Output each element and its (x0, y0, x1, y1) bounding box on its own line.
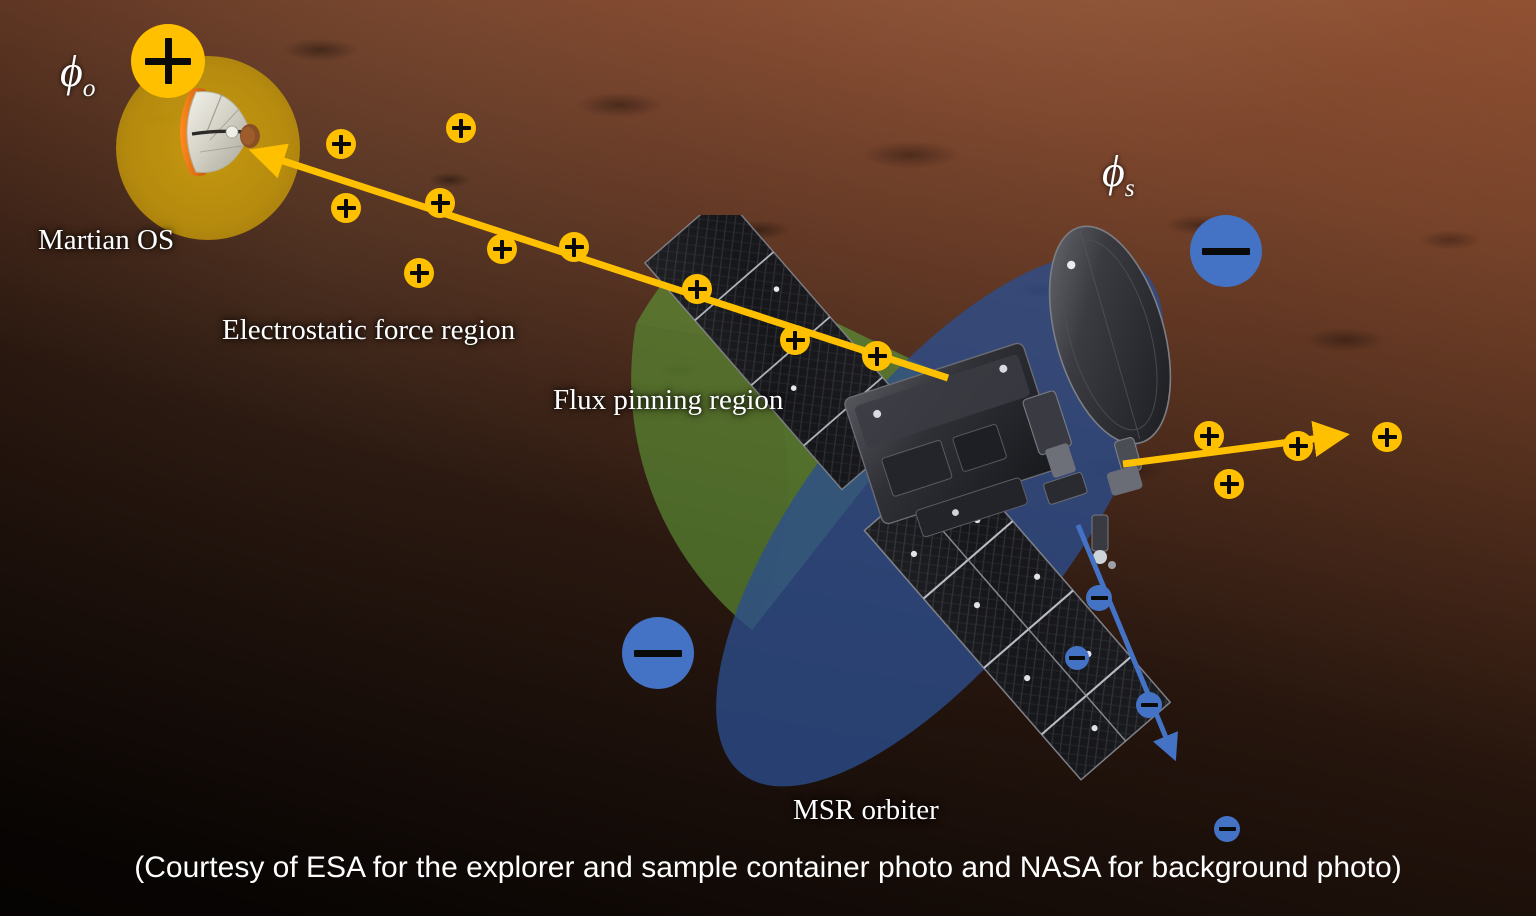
plus-charge-0 (326, 129, 356, 159)
plus-vertical-bar (793, 331, 797, 350)
phi-o-subscript: o (83, 73, 96, 102)
figure-canvas: ϕo ϕs Martian OS Electrostatic force reg… (0, 0, 1536, 916)
minus-charge-0 (1086, 585, 1112, 611)
plus-vertical-bar (165, 38, 172, 84)
plus-charge-6 (559, 232, 589, 262)
sc-negative-charge-badge-top (1190, 215, 1262, 287)
figure-caption: (Courtesy of ESA for the explorer and sa… (0, 851, 1536, 885)
minus-bar (1219, 827, 1236, 831)
plus-charge-8 (780, 325, 810, 355)
phi-s-potential-symbol: ϕs (1102, 146, 1135, 203)
plus-charge-5 (487, 234, 517, 264)
plus-vertical-bar (417, 264, 421, 283)
plus-vertical-bar (339, 135, 343, 154)
martian-os-label: Martian OS (38, 224, 174, 257)
plus-vertical-bar (1296, 437, 1300, 456)
msr-orbiter-label: MSR orbiter (793, 794, 939, 827)
electrostatic-force-region-label: Electrostatic force region (222, 314, 515, 347)
phi-s-subscript: s (1125, 173, 1135, 202)
plus-charge-13 (1372, 422, 1402, 452)
plus-vertical-bar (1227, 475, 1231, 494)
plus-charge-1 (446, 113, 476, 143)
plus-charge-10 (1194, 421, 1224, 451)
minus-charge-2 (1136, 692, 1162, 718)
plus-vertical-bar (438, 194, 442, 213)
phi-o-symbol: ϕ (60, 47, 83, 96)
plus-vertical-bar (500, 240, 504, 259)
plus-vertical-bar (875, 347, 879, 366)
plus-charge-4 (425, 188, 455, 218)
minus-bar (1091, 596, 1108, 600)
plus-vertical-bar (344, 199, 348, 218)
plus-charge-3 (331, 193, 361, 223)
minus-bar (1069, 656, 1085, 660)
electron-emission-arrow (1078, 525, 1172, 752)
plus-vertical-bar (1207, 427, 1211, 446)
minus-bar (1202, 248, 1250, 255)
phi-o-potential-symbol: ϕo (60, 46, 96, 103)
minus-bar (1141, 703, 1158, 707)
os-positive-charge-badge (131, 24, 205, 98)
flux-pinning-region-label: Flux pinning region (553, 384, 783, 417)
plus-vertical-bar (1385, 428, 1389, 447)
minus-charge-3 (1214, 816, 1240, 842)
plus-charge-9 (862, 341, 892, 371)
plus-charge-7 (682, 274, 712, 304)
phi-s-symbol: ϕ (1102, 147, 1125, 196)
sc-negative-charge-badge-bottom (622, 617, 694, 689)
minus-charge-1 (1065, 646, 1089, 670)
plus-charge-12 (1214, 469, 1244, 499)
plus-vertical-bar (695, 280, 699, 299)
plus-charge-2 (404, 258, 434, 288)
plus-charge-11 (1283, 431, 1313, 461)
minus-bar (634, 650, 682, 657)
plus-vertical-bar (459, 119, 463, 138)
plus-vertical-bar (572, 238, 576, 257)
